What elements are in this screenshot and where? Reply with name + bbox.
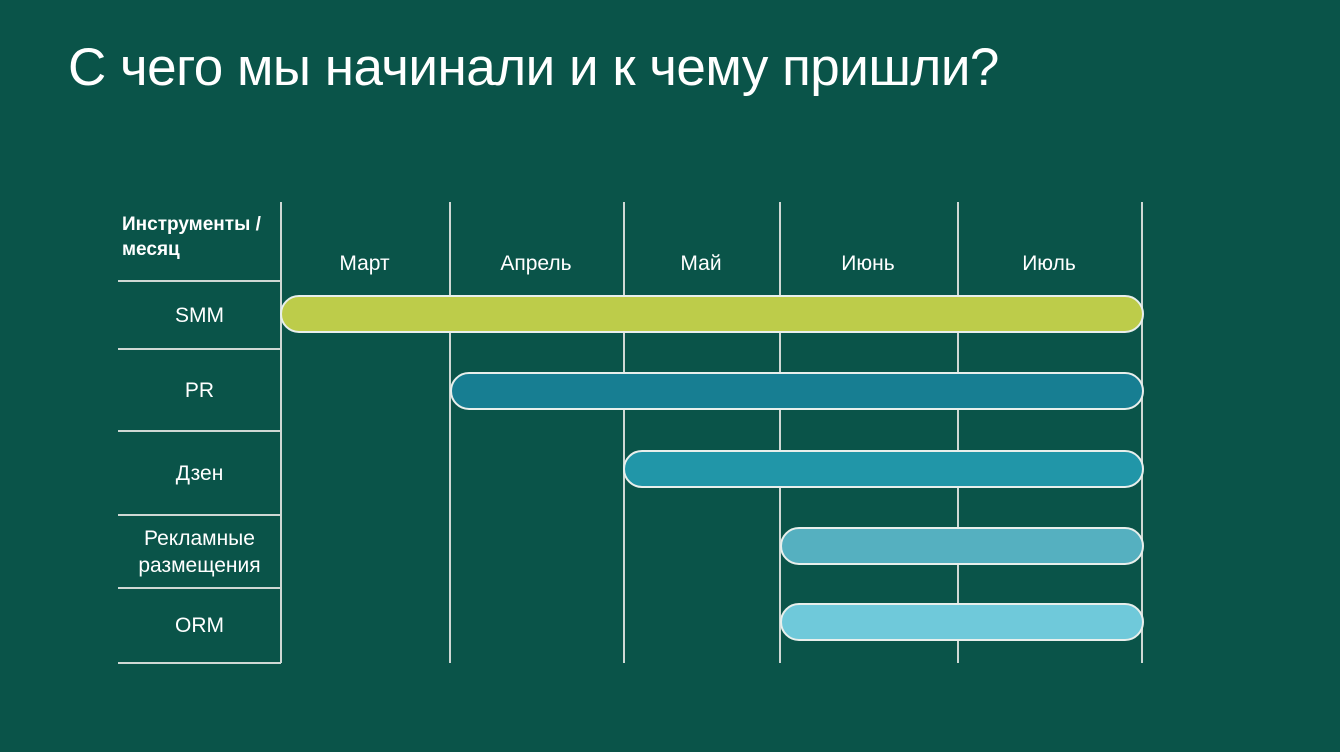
column-header-june: Июнь (779, 250, 957, 278)
gantt-bar-ads[interactable] (780, 527, 1144, 565)
column-header-may: Май (623, 250, 779, 278)
column-header-march: Март (280, 250, 449, 278)
corner-header-label: Инструменты / месяц (122, 212, 292, 262)
gridline-horizontal-4 (118, 662, 281, 664)
column-header-april: Апрель (449, 250, 623, 278)
gantt-chart: Инструменты / месяц Март Апрель Май Июнь… (0, 0, 1340, 752)
column-header-july: Июль (957, 250, 1141, 278)
row-label-dzen: Дзен (118, 432, 281, 514)
gridline-vertical-5 (1141, 202, 1143, 663)
gantt-bar-dzen[interactable] (623, 450, 1144, 488)
gantt-bar-orm[interactable] (780, 603, 1144, 641)
row-label-smm: SMM (118, 282, 281, 348)
gantt-bar-pr[interactable] (450, 372, 1144, 410)
gantt-bar-smm[interactable] (280, 295, 1144, 333)
slide: С чего мы начинали и к чему пришли? Инст… (0, 0, 1340, 752)
row-label-ads: Рекламные размещения (118, 516, 281, 587)
row-label-orm: ORM (118, 589, 281, 662)
row-label-pr: PR (118, 350, 281, 430)
